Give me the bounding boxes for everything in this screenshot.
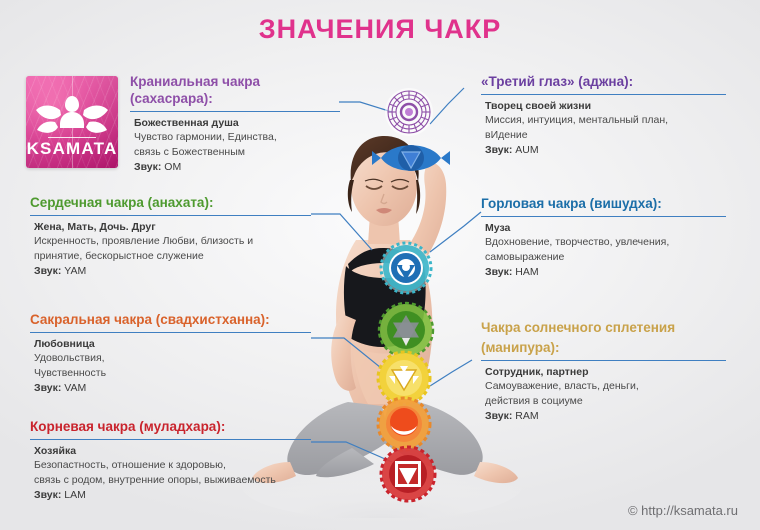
sound-value: HAM [515, 266, 538, 278]
chakra-block-svadhisthana: Сакральная чакра (свадхистханна): Любовн… [30, 312, 311, 394]
chakra-lead-muladhara: Хозяйка [34, 445, 311, 457]
chakra-desc-line2: самовыражение [485, 250, 726, 265]
chakra-block-vishuddha: Горловая чакра (вишудха): Муза Вдохновен… [481, 196, 726, 278]
chakra-block-manipura: Чакра солнечного сплетения (манипура): С… [481, 320, 726, 422]
chakra-sound-vishuddha: Звук: HAM [485, 266, 726, 278]
chakra-lead-vishuddha: Муза [485, 222, 726, 234]
chakra-heading-sahasrara: Краниальная чакра (сахасрара): [130, 74, 340, 108]
sound-value: AUM [515, 144, 538, 156]
chakra-desc-line1: Вдохновение, творчество, увлечения, [485, 235, 726, 250]
chakra-heading-manipura-line2: (манипура): [481, 340, 726, 357]
heading-rule [481, 94, 726, 96]
chakra-desc-line2: Чувственность [34, 366, 311, 381]
heading-rule [30, 215, 311, 217]
chakra-desc-line2: связь с Божественным [134, 145, 340, 160]
chakra-heading-ajna: «Третий глаз» (аджна): [481, 74, 726, 91]
chakra-lead-svadhisthana: Любовница [34, 338, 311, 350]
chakra-lead-anahata: Жена, Мать, Дочь. Друг [34, 221, 311, 233]
lotus-meditation-icon [35, 88, 109, 136]
logo-brand-text: KSAMATA [26, 139, 118, 159]
sound-label: Звук: [34, 489, 61, 501]
chakra-desc-line1: Искренность, проявление Любви, близость … [34, 234, 311, 249]
chakra-sound-svadhisthana: Звук: VAM [34, 382, 311, 394]
copyright-footer: © http://ksamata.ru [628, 503, 738, 518]
chakra-desc-line1: Самоуважение, власть, деньги, [485, 379, 726, 394]
sound-label: Звук: [134, 161, 161, 173]
chakra-desc-line1: Безопастность, отношение к здоровью, [34, 458, 311, 473]
sound-label: Звук: [485, 266, 512, 278]
page-title: ЗНАЧЕНИЯ ЧАКР [0, 14, 760, 45]
logo-divider [48, 137, 96, 139]
chakra-block-sahasrara: Краниальная чакра (сахасрара): Божествен… [130, 74, 340, 173]
sound-label: Звук: [34, 265, 61, 277]
ksamata-logo: KSAMATA [26, 76, 118, 168]
chakra-desc-line2: вИдение [485, 128, 726, 143]
heading-rule [30, 439, 311, 441]
chakra-desc-line1: Миссия, интуиция, ментальный план, [485, 113, 726, 128]
chakra-sound-ajna: Звук: AUM [485, 144, 726, 156]
chakra-sound-manipura: Звук: RAM [485, 410, 726, 422]
sound-value: YAM [64, 265, 86, 277]
chakra-block-anahata: Сердечная чакра (анахата): Жена, Мать, Д… [30, 195, 311, 277]
chakra-desc-line1: Чувство гармонии, Единства, [134, 130, 340, 145]
heading-rule [30, 332, 311, 334]
heading-rule [481, 360, 726, 362]
sound-label: Звук: [485, 410, 512, 422]
chakra-lead-ajna: Творец своей жизни [485, 100, 726, 112]
chakra-heading-manipura-line1: Чакра солнечного сплетения [481, 320, 726, 337]
chakra-desc-line1: Удовольствия, [34, 351, 311, 366]
chakra-block-muladhara: Корневая чакра (муладхара): Хозяйка Безо… [30, 419, 311, 501]
chakra-desc-line2: связь с родом, внутренние опоры, выживае… [34, 473, 311, 488]
sound-label: Звук: [485, 144, 512, 156]
chakra-lead-sahasrara: Божественная душа [134, 117, 340, 129]
chakra-sound-anahata: Звук: YAM [34, 265, 311, 277]
chakra-lead-manipura: Сотрудник, партнер [485, 366, 726, 378]
sound-value: RAM [515, 410, 538, 422]
sound-value: VAM [64, 382, 86, 394]
sound-label: Звук: [34, 382, 61, 394]
infographic-canvas: ЗНАЧЕНИЯ ЧАКР KSAMATA [0, 0, 760, 530]
sound-value: LAM [64, 489, 86, 501]
chakra-heading-svadhisthana: Сакральная чакра (свадхистханна): [30, 312, 311, 329]
chakra-sound-muladhara: Звук: LAM [34, 489, 311, 501]
sound-value: OM [164, 161, 181, 173]
heading-rule [130, 111, 340, 113]
heading-rule [481, 216, 726, 218]
chakra-desc-line2: принятие, бескорыстное служение [34, 249, 311, 264]
chakra-heading-muladhara: Корневая чакра (муладхара): [30, 419, 311, 436]
chakra-sound-sahasrara: Звук: OM [134, 161, 340, 173]
chakra-block-ajna: «Третий глаз» (аджна): Творец своей жизн… [481, 74, 726, 156]
chakra-heading-anahata: Сердечная чакра (анахата): [30, 195, 311, 212]
chakra-heading-vishuddha: Горловая чакра (вишудха): [481, 196, 726, 213]
chakra-desc-line2: действия в социуме [485, 394, 726, 409]
